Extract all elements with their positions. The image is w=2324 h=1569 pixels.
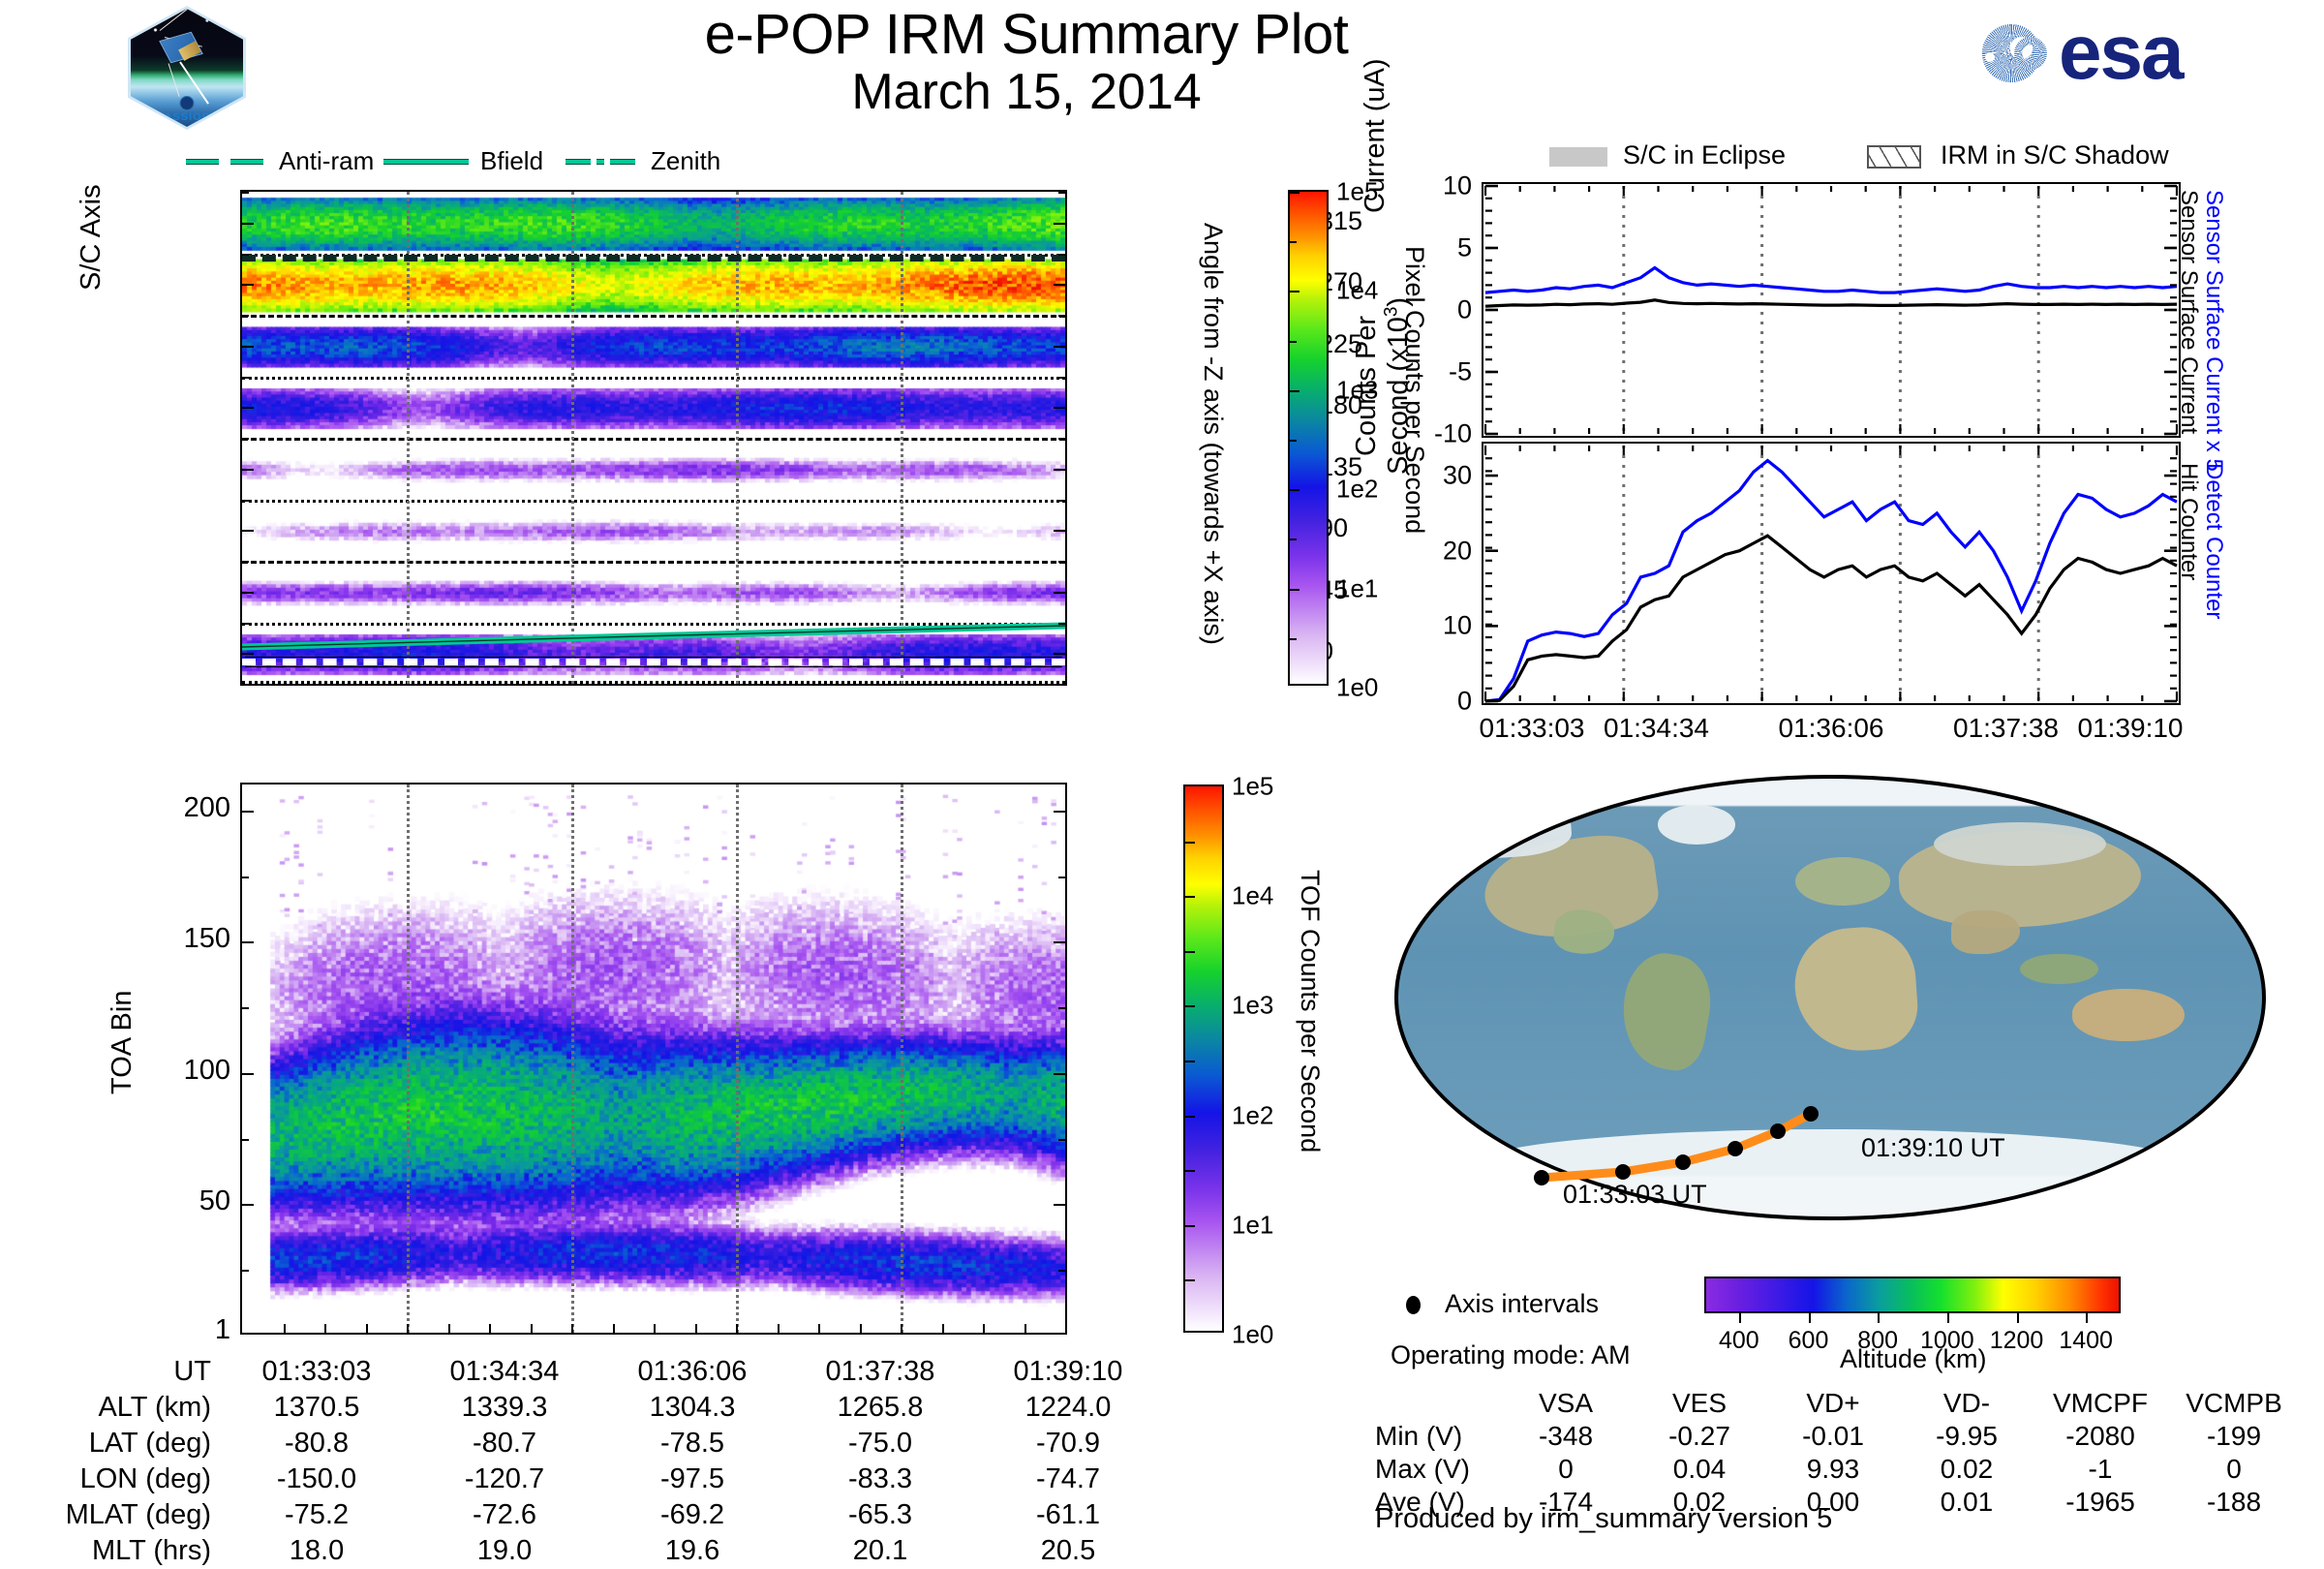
colorbar-minor-tick bbox=[1290, 589, 1297, 591]
y-tick-left bbox=[242, 223, 254, 225]
toa-spectrogram-pixels bbox=[242, 784, 1065, 1333]
ephemeris-cell: -70.9 bbox=[974, 1426, 1162, 1461]
ephemeris-row-label: UT bbox=[19, 1354, 223, 1390]
angle-separator-line bbox=[242, 377, 1065, 380]
y-tick-left-minor bbox=[242, 623, 249, 625]
counts-y-title-line1: Counts Per bbox=[1351, 316, 1382, 456]
ephemeris-cell: 18.0 bbox=[223, 1533, 411, 1569]
toa-y-minor-tick-right bbox=[1058, 1073, 1065, 1075]
tof-colorbar-tick bbox=[1185, 1279, 1195, 1281]
ephemeris-cell: 01:33:03 bbox=[223, 1354, 411, 1390]
right-panel-x-tick-label: 01:36:06 bbox=[1779, 713, 1884, 744]
ephemeris-cell: 01:37:38 bbox=[786, 1354, 974, 1390]
line-panel-y-tick-label: -5 bbox=[1449, 357, 1472, 387]
legend-swatch-dashdot-b bbox=[596, 159, 604, 165]
voltage-cell: 0.04 bbox=[1633, 1453, 1766, 1486]
sensor-surface-current-panel[interactable]: 1050-5-10 bbox=[1482, 182, 2181, 438]
colorbar-tick-label: 1e1 bbox=[1336, 573, 1378, 603]
y-tick-right bbox=[1054, 469, 1065, 471]
ephemeris-cell: -78.5 bbox=[598, 1426, 786, 1461]
altitude-colorbar-tick bbox=[1947, 1313, 1949, 1323]
voltage-cell: -2080 bbox=[2033, 1420, 2167, 1453]
line-panel-y-tick-label: -10 bbox=[1434, 419, 1472, 449]
y-tick-left-minor bbox=[242, 377, 249, 379]
ephemeris-cell: -97.5 bbox=[598, 1461, 786, 1497]
toa-tick-label: 1 bbox=[0, 1314, 230, 1346]
y-tick-left bbox=[242, 284, 254, 286]
pixel-counts-colorbar: 1e01e11e21e31e41e5 bbox=[1288, 190, 1329, 686]
ephemeris-row-label: MLT (hrs) bbox=[19, 1533, 223, 1569]
orbit-ground-track-map[interactable]: 01:39:10 UT 01:33:03 UT bbox=[1394, 775, 2266, 1220]
tof-colorbar-tick-label: 1e2 bbox=[1232, 1100, 1273, 1130]
ephemeris-cell: -80.7 bbox=[411, 1426, 598, 1461]
ephemeris-row: LON (deg)-150.0-120.7-97.5-83.3-74.7 bbox=[19, 1461, 1162, 1497]
y-tick-left-minor bbox=[242, 315, 249, 317]
time-gridline bbox=[571, 784, 574, 1333]
y-tick-right-minor bbox=[1058, 623, 1065, 625]
ephemeris-row: MLAT (deg)-75.2-72.6-69.2-65.3-61.1 bbox=[19, 1497, 1162, 1533]
angle-separator-line bbox=[242, 254, 1065, 257]
legend-swatch-solid bbox=[383, 159, 469, 165]
ephemeris-cell: -75.2 bbox=[223, 1497, 411, 1533]
colorbar-minor-tick bbox=[1290, 241, 1297, 243]
altitude-colorbar-tick bbox=[1878, 1313, 1880, 1323]
ephemeris-cell: 1224.0 bbox=[974, 1390, 1162, 1426]
legend-swatch-dashed bbox=[186, 159, 219, 165]
y-tick-left bbox=[242, 592, 254, 594]
ephemeris-cell: -83.3 bbox=[786, 1461, 974, 1497]
ephemeris-row: MLT (hrs)18.019.019.620.120.5 bbox=[19, 1533, 1162, 1569]
voltage-cell: -9.95 bbox=[1900, 1420, 2033, 1453]
voltage-cell: -1 bbox=[2033, 1453, 2167, 1486]
toa-x-tick bbox=[778, 1324, 780, 1333]
colorbar-minor-tick bbox=[1290, 390, 1297, 392]
legend-label-sc-eclipse: S/C in Eclipse bbox=[1623, 140, 1786, 170]
ephemeris-table: UT01:33:0301:34:3401:36:0601:37:3801:39:… bbox=[19, 1354, 1162, 1569]
toa-x-tick bbox=[531, 1324, 533, 1333]
y-tick-right-minor bbox=[1058, 438, 1065, 440]
toa-x-tick bbox=[860, 1324, 862, 1333]
toa-spectrogram-canvas bbox=[242, 784, 1065, 1333]
toa-x-tick bbox=[407, 1324, 409, 1333]
voltage-column-header: VD+ bbox=[1766, 1387, 1900, 1420]
toa-y-minor-tick-right bbox=[1058, 941, 1065, 943]
counts-y-title-line2: Second (x103) bbox=[1383, 297, 1414, 475]
toa-x-tick bbox=[983, 1324, 985, 1333]
cassiope-logo-label: CASSIOPE bbox=[131, 111, 243, 123]
toa-x-tick bbox=[654, 1324, 656, 1333]
line-panel-y-tick-label: 10 bbox=[1443, 611, 1472, 641]
y-tick-left-minor bbox=[242, 254, 249, 256]
y-tick-left bbox=[242, 653, 254, 655]
track-start-label: 01:33:03 UT bbox=[1563, 1180, 1707, 1210]
voltage-cell: -0.01 bbox=[1766, 1420, 1900, 1453]
ephemeris-row: ALT (km)1370.51339.31304.31265.81224.0 bbox=[19, 1390, 1162, 1426]
ephemeris-cell: -80.8 bbox=[223, 1426, 411, 1461]
toa-x-tick bbox=[613, 1324, 615, 1333]
current-plot-svg bbox=[1483, 184, 2179, 436]
toa-y-minor-tick bbox=[242, 1007, 249, 1009]
y-tick-right bbox=[1054, 223, 1065, 225]
colorbar-minor-tick bbox=[1290, 638, 1297, 640]
operating-mode-label: Operating mode: AM bbox=[1391, 1340, 1631, 1370]
ephemeris-cell: 1339.3 bbox=[411, 1390, 598, 1426]
y-tick-left-minor bbox=[242, 500, 249, 502]
angle-separator-line-zero bbox=[242, 681, 1065, 684]
y-tick-left bbox=[242, 346, 254, 348]
ephemeris-cell: -75.0 bbox=[786, 1426, 974, 1461]
voltage-cell: -0.27 bbox=[1633, 1420, 1766, 1453]
tof-colorbar-tick-label: 1e5 bbox=[1232, 772, 1273, 802]
voltage-column-header: VES bbox=[1633, 1387, 1766, 1420]
right-panel-x-tick-label: 01:33:03 bbox=[1480, 713, 1585, 744]
tof-colorbar-tick bbox=[1185, 1005, 1195, 1007]
ephemeris-cell: -65.3 bbox=[786, 1497, 974, 1533]
ephemeris-cell: 01:39:10 bbox=[974, 1354, 1162, 1390]
altitude-colorbar-tick bbox=[1739, 1313, 1741, 1323]
angle-separator-line bbox=[242, 315, 1065, 318]
line-panel-y-tick-label: 0 bbox=[1457, 687, 1472, 717]
line-panel-y-tick-label: 20 bbox=[1443, 536, 1472, 566]
altitude-colorbar-tick bbox=[2086, 1313, 2088, 1323]
tof-colorbar-tick bbox=[1185, 951, 1195, 953]
y-tick-left bbox=[242, 530, 254, 532]
time-gridline bbox=[736, 784, 739, 1333]
voltage-row-label: Max (V) bbox=[1375, 1453, 1499, 1486]
tof-colorbar-tick-label: 1e1 bbox=[1232, 1210, 1273, 1240]
voltage-cell: -348 bbox=[1499, 1420, 1633, 1453]
voltage-cell: 0.01 bbox=[1900, 1486, 2033, 1519]
voltage-row: Min (V)-348-0.27-0.01-9.95-2080-199 bbox=[1375, 1420, 2301, 1453]
altitude-colorbar-tick-label: 400 bbox=[1719, 1327, 1759, 1355]
produced-by-footer: Produced by irm_summary version 5 bbox=[1375, 1503, 1832, 1535]
voltage-column-header: VMCPF bbox=[2033, 1387, 2167, 1420]
altitude-colorbar bbox=[1704, 1277, 2121, 1313]
ephemeris-cell: -120.7 bbox=[411, 1461, 598, 1497]
voltage-column-header: VCMPB bbox=[2167, 1387, 2301, 1420]
colorbar-tick-label: 1e2 bbox=[1336, 475, 1378, 505]
legend-swatch-dashdot-c bbox=[610, 159, 635, 165]
orbit-track-svg bbox=[1394, 775, 2266, 1220]
toa-tick-label: 150 bbox=[0, 923, 230, 955]
line-panel-y-tick-label: 5 bbox=[1457, 233, 1472, 263]
current-right-label-black: Sensor Surface Current bbox=[2175, 190, 2202, 434]
counts-right-label-blue: Detect Counter bbox=[2200, 463, 2227, 619]
tof-colorbar-tick bbox=[1185, 1061, 1195, 1062]
toa-y-minor-tick bbox=[242, 1204, 249, 1206]
toa-x-tick bbox=[571, 1324, 573, 1333]
tof-counts-colorbar: 1e01e11e21e31e41e5 bbox=[1183, 784, 1224, 1333]
eclipse-swatch-icon bbox=[1549, 147, 1607, 167]
toa-y-minor-tick-right bbox=[1058, 877, 1065, 878]
tof-colorbar-tick bbox=[1185, 1225, 1195, 1227]
ephemeris-cell: 20.5 bbox=[974, 1533, 1162, 1569]
y-tick-right bbox=[1054, 530, 1065, 532]
ephemeris-cell: 1265.8 bbox=[786, 1390, 974, 1426]
voltage-cell: -1965 bbox=[2033, 1486, 2167, 1519]
tof-colorbar-tick bbox=[1185, 896, 1195, 898]
ephemeris-cell: 20.1 bbox=[786, 1533, 974, 1569]
spectrogram-right-axis-title: Angle from -Z axis (towards +X axis) bbox=[1198, 223, 1228, 645]
tof-counts-colorbar-title: TOF Counts per Second bbox=[1295, 870, 1325, 1153]
tof-colorbar-tick bbox=[1185, 1170, 1195, 1172]
ephemeris-row: UT01:33:0301:34:3401:36:0601:37:3801:39:… bbox=[19, 1354, 1162, 1390]
eclipse-shadow-legend: S/C in Eclipse IRM in S/C Shadow bbox=[1549, 139, 2285, 174]
right-panel-x-tick-label: 01:34:34 bbox=[1604, 713, 1709, 744]
y-tick-right-minor bbox=[1058, 500, 1065, 502]
toa-tick-label: 100 bbox=[0, 1055, 230, 1087]
angle-separator-line bbox=[242, 438, 1065, 441]
title-main: e-POP IRM Summary Plot bbox=[542, 6, 1511, 63]
time-gridline bbox=[407, 192, 410, 684]
voltage-cell: 0.02 bbox=[1900, 1453, 2033, 1486]
y-tick-right bbox=[1054, 407, 1065, 409]
time-gridline bbox=[571, 192, 574, 684]
ephemeris-cell: 01:36:06 bbox=[598, 1354, 786, 1390]
ephemeris-cell: -69.2 bbox=[598, 1497, 786, 1533]
y-tick-right bbox=[1054, 284, 1065, 286]
axis-interval-marker-icon bbox=[1406, 1296, 1421, 1314]
ephemeris-cell: 19.6 bbox=[598, 1533, 786, 1569]
ephemeris-row-label: LON (deg) bbox=[19, 1461, 223, 1497]
esa-logo-icon: esa bbox=[1970, 8, 2289, 97]
altitude-colorbar-tick bbox=[1809, 1313, 1811, 1323]
right-panels-x-axis-labels: 01:33:0301:34:3401:36:0601:37:3801:39:10 bbox=[1482, 713, 2181, 746]
y-tick-right-minor bbox=[1058, 561, 1065, 563]
axis-intervals-label: Axis intervals bbox=[1445, 1289, 1599, 1319]
tof-colorbar-tick bbox=[1185, 842, 1195, 844]
toa-y-minor-tick-right bbox=[1058, 1007, 1065, 1009]
time-gridline bbox=[901, 192, 903, 684]
altitude-colorbar-title: Altitude (km) bbox=[1840, 1344, 1987, 1374]
altitude-colorbar-tick-label: 1200 bbox=[1990, 1327, 2044, 1355]
toa-x-tick bbox=[1024, 1324, 1026, 1333]
line-panel-y-tick-label: 10 bbox=[1443, 171, 1472, 201]
sc-axis-angle-spectrogram[interactable]: -X/-Z315-X270+Z/-X225+Z180+X/+Z135+X90-Z… bbox=[240, 190, 1067, 686]
tof-colorbar-tick-label: 1e3 bbox=[1232, 991, 1273, 1021]
voltage-header-row: VSAVESVD+VD-VMCPFVCMPB bbox=[1375, 1387, 2301, 1420]
y-tick-left-minor bbox=[242, 561, 249, 563]
voltage-summary-table: VSAVESVD+VD-VMCPFVCMPBMin (V)-348-0.27-0… bbox=[1375, 1387, 2305, 1519]
toa-x-tick bbox=[901, 1324, 902, 1333]
colorbar-minor-tick bbox=[1290, 538, 1297, 540]
y-tick-right-minor bbox=[1058, 192, 1065, 194]
y-tick-right-minor bbox=[1058, 315, 1065, 317]
toa-y-minor-tick-right bbox=[1058, 1270, 1065, 1272]
toa-x-tick bbox=[818, 1324, 820, 1333]
ephemeris-cell: 01:34:34 bbox=[411, 1354, 598, 1390]
counts-panel-y-title: Counts Per Second (x103) bbox=[1352, 297, 1414, 475]
spectrogram-y-axis-title: S/C Axis bbox=[76, 184, 107, 291]
angle-separator-line bbox=[242, 500, 1065, 503]
toa-y-tick bbox=[242, 1333, 254, 1335]
spectrogram-overlay-legend: Anti-ram Bfield Zenith bbox=[184, 145, 707, 178]
current-panel-y-title: Current (uA) bbox=[1360, 58, 1391, 213]
y-tick-right bbox=[1054, 653, 1065, 655]
voltage-column-header: VD- bbox=[1900, 1387, 2033, 1420]
colorbar-tick-label: 1e0 bbox=[1336, 673, 1378, 703]
time-gridline bbox=[736, 192, 739, 684]
legend-swatch-dashed-2 bbox=[230, 159, 263, 165]
toa-y-minor-tick bbox=[242, 1139, 249, 1141]
ephemeris-cell: 1304.3 bbox=[598, 1390, 786, 1426]
ephemeris-cell: -74.7 bbox=[974, 1461, 1162, 1497]
right-panel-x-tick-label: 01:37:38 bbox=[1953, 713, 2059, 744]
ephemeris-cell: 19.0 bbox=[411, 1533, 598, 1569]
voltage-row-label: Min (V) bbox=[1375, 1420, 1499, 1453]
detect-hit-counter-panel[interactable]: 3020100 bbox=[1482, 442, 2181, 705]
line-panel-y-tick-label: 30 bbox=[1443, 461, 1472, 491]
y-tick-left bbox=[242, 407, 254, 409]
time-gridline bbox=[901, 784, 903, 1333]
voltage-cell: -188 bbox=[2167, 1486, 2301, 1519]
ephemeris-row-label: ALT (km) bbox=[19, 1390, 223, 1426]
tof-colorbar-tick-label: 1e0 bbox=[1232, 1320, 1273, 1350]
voltage-cell: 9.93 bbox=[1766, 1453, 1900, 1486]
ephemeris-cell: -150.0 bbox=[223, 1461, 411, 1497]
altitude-colorbar-tick bbox=[2017, 1313, 2019, 1323]
y-tick-left-minor bbox=[242, 192, 249, 194]
right-panel-x-tick-label: 01:39:10 bbox=[2078, 713, 2184, 744]
toa-y-minor-tick-right bbox=[1058, 811, 1065, 813]
toa-y-tick-right bbox=[1054, 1333, 1065, 1335]
toa-y-minor-tick bbox=[242, 941, 249, 943]
toa-tick-label: 200 bbox=[0, 792, 230, 824]
line-panel-y-tick-label: 0 bbox=[1457, 295, 1472, 325]
current-right-label-blue: Sensor Surface Current x 5 bbox=[2200, 190, 2227, 472]
toa-y-minor-tick bbox=[242, 877, 249, 878]
y-tick-right-minor bbox=[1058, 254, 1065, 256]
voltage-row: Max (V)00.049.930.02-10 bbox=[1375, 1453, 2301, 1486]
y-tick-left-minor bbox=[242, 438, 249, 440]
toa-x-tick bbox=[695, 1324, 697, 1333]
toa-y-minor-tick-right bbox=[1058, 1204, 1065, 1206]
y-tick-left bbox=[242, 469, 254, 471]
colorbar-minor-tick bbox=[1290, 291, 1297, 292]
legend-label-anti-ram: Anti-ram bbox=[279, 146, 374, 176]
voltage-header-blank bbox=[1375, 1387, 1499, 1420]
colorbar-minor-tick bbox=[1290, 341, 1297, 343]
y-tick-right-minor bbox=[1058, 377, 1065, 379]
y-tick-right bbox=[1054, 592, 1065, 594]
tof-colorbar-tick-label: 1e4 bbox=[1232, 881, 1273, 911]
ephemeris-cell: 1370.5 bbox=[223, 1390, 411, 1426]
toa-tick-label: 50 bbox=[0, 1185, 230, 1217]
counts-plot-svg bbox=[1483, 444, 2179, 703]
shadow-hatch-swatch-icon bbox=[1867, 145, 1921, 169]
voltage-cell: -199 bbox=[2167, 1420, 2301, 1453]
ephemeris-row-label: LAT (deg) bbox=[19, 1426, 223, 1461]
toa-y-minor-tick-right bbox=[1058, 1139, 1065, 1141]
toa-y-minor-tick bbox=[242, 1270, 249, 1272]
angle-separator-line bbox=[242, 623, 1065, 626]
legend-label-zenith: Zenith bbox=[651, 146, 720, 176]
toa-x-tick bbox=[324, 1324, 326, 1333]
toa-bin-spectrogram[interactable]: 200150100501 bbox=[240, 783, 1067, 1335]
voltage-cell: 0 bbox=[1499, 1453, 1633, 1486]
ephemeris-cell: -72.6 bbox=[411, 1497, 598, 1533]
legend-swatch-dashdot-a bbox=[566, 159, 591, 165]
colorbar-minor-tick bbox=[1290, 440, 1297, 442]
toa-x-tick bbox=[448, 1324, 450, 1333]
ephemeris-row-label: MLAT (deg) bbox=[19, 1497, 223, 1533]
legend-label-bfield: Bfield bbox=[480, 146, 543, 176]
cassiope-mission-logo-icon: CASSIOPE bbox=[128, 6, 246, 130]
toa-x-tick bbox=[942, 1324, 944, 1333]
ephemeris-cell: -61.1 bbox=[974, 1497, 1162, 1533]
tof-colorbar-tick bbox=[1185, 1116, 1195, 1118]
ephemeris-row: LAT (deg)-80.8-80.7-78.5-75.0-70.9 bbox=[19, 1426, 1162, 1461]
toa-x-tick bbox=[284, 1324, 286, 1333]
toa-x-tick bbox=[366, 1324, 368, 1333]
voltage-column-header: VSA bbox=[1499, 1387, 1633, 1420]
legend-label-irm-shadow: IRM in S/C Shadow bbox=[1941, 140, 2169, 170]
esa-wordmark: esa bbox=[2059, 14, 2182, 91]
toa-y-minor-tick bbox=[242, 1073, 249, 1075]
toa-x-tick bbox=[489, 1324, 491, 1333]
voltage-cell: 0 bbox=[2167, 1453, 2301, 1486]
track-end-label: 01:39:10 UT bbox=[1861, 1133, 2005, 1163]
altitude-colorbar-tick-label: 1400 bbox=[2059, 1327, 2113, 1355]
colorbar-minor-tick bbox=[1290, 489, 1297, 491]
time-gridline bbox=[407, 784, 410, 1333]
counts-right-label-black: Hit Counter bbox=[2175, 463, 2202, 580]
toa-y-minor-tick bbox=[242, 811, 249, 813]
angle-separator-line bbox=[242, 561, 1065, 564]
colorbar-tick bbox=[1290, 192, 1300, 194]
y-tick-right bbox=[1054, 346, 1065, 348]
altitude-colorbar-tick-label: 600 bbox=[1789, 1327, 1829, 1355]
toa-x-tick bbox=[736, 1324, 738, 1333]
